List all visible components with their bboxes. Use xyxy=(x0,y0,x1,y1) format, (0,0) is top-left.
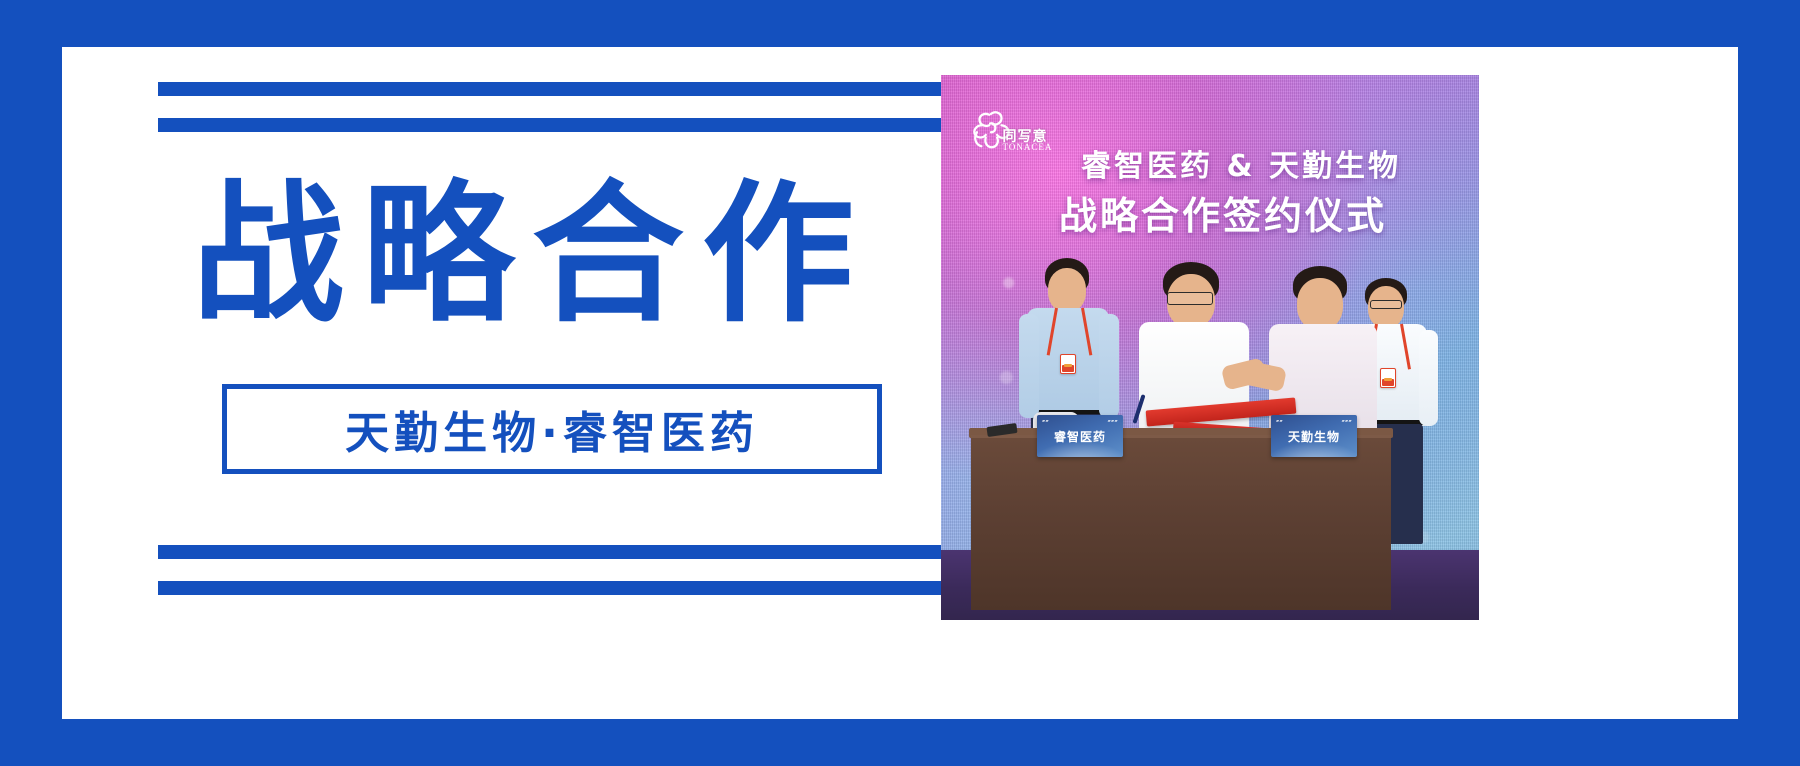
poster-root: 战略合作 天勤生物·睿智医药 xyxy=(0,0,1800,766)
nameplate-right-logos: ▰▰▰▰▰ xyxy=(1276,418,1352,423)
head xyxy=(1297,278,1343,330)
glasses-icon xyxy=(1167,292,1213,305)
nameplate-wave-decoration xyxy=(1271,441,1357,457)
nameplate-left-logos: ▰▰▰▰▰ xyxy=(1042,418,1118,423)
top-rule-2 xyxy=(158,118,968,132)
signing-ceremony-photo: 同写意 TONACEA 睿智医药 & 天勤生物 战略合作签约仪式 xyxy=(941,75,1479,620)
backdrop-title-line1: 睿智医药 & 天勤生物 xyxy=(1081,141,1401,185)
arm-right xyxy=(1099,314,1119,418)
brand-logo: 同写意 TONACEA xyxy=(963,110,1073,168)
brand-logo-en: TONACEA xyxy=(1003,142,1053,152)
event-badge xyxy=(1060,354,1076,374)
head xyxy=(1048,268,1086,312)
signing-table xyxy=(971,435,1391,610)
poster-white-card: 战略合作 天勤生物·睿智医药 xyxy=(62,47,1738,719)
bottom-rule-1 xyxy=(158,545,968,559)
left-text-column: 战略合作 天勤生物·睿智医药 xyxy=(92,47,972,719)
top-rule-1 xyxy=(158,82,968,96)
nameplate-wave-decoration xyxy=(1037,441,1123,457)
bottom-rule-2 xyxy=(158,581,968,595)
nameplate-right: ▰▰▰▰▰ 天勤生物 xyxy=(1271,415,1357,457)
backdrop-title-line2: 战略合作签约仪式 xyxy=(1059,185,1387,240)
page-title: 战略合作 xyxy=(192,177,932,332)
subtitle-text: 天勤生物·睿智医药 xyxy=(345,397,759,461)
nameplate-left: ▰▰▰▰▰ 睿智医药 xyxy=(1037,415,1123,457)
subtitle-box: 天勤生物·睿智医药 xyxy=(222,384,882,474)
arm-right xyxy=(1419,330,1438,426)
arm-left xyxy=(1019,314,1039,418)
